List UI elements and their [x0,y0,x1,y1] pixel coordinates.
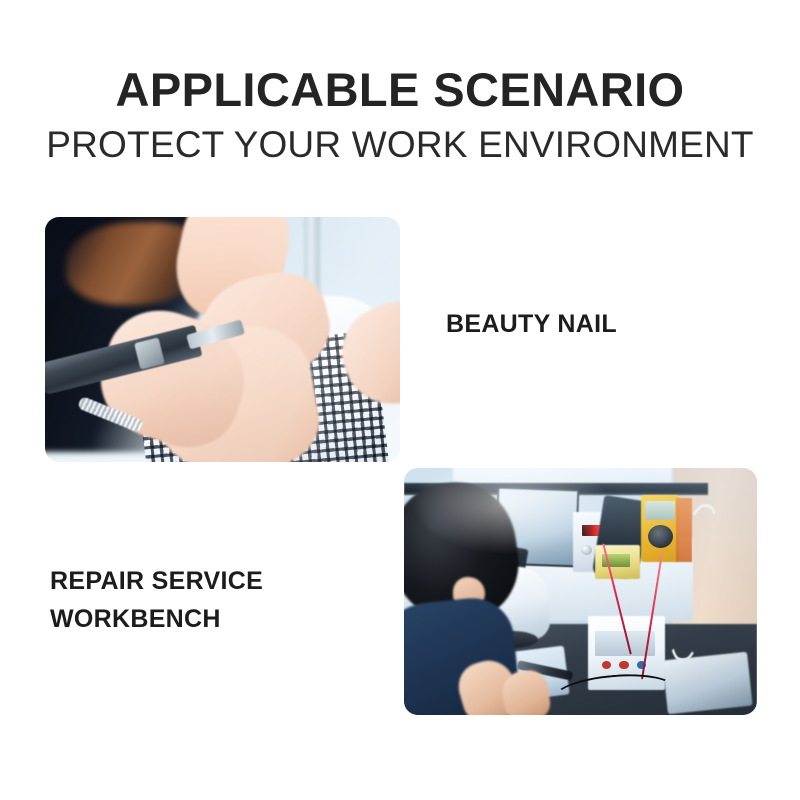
photo-glare [404,468,757,715]
photo-beauty-nail [45,217,400,462]
photo-sheen [45,217,400,462]
caption-beauty-nail: BEAUTY NAIL [446,305,617,343]
caption-repair-line1: REPAIR SERVICE [50,562,263,600]
page-title: APPLICABLE SCENARIO [0,62,800,118]
caption-repair-workbench: REPAIR SERVICE WORKBENCH [50,562,263,638]
repair-workbench-scene [404,468,757,715]
beauty-nail-scene [45,217,400,462]
heading-block: APPLICABLE SCENARIO PROTECT YOUR WORK EN… [0,62,800,168]
photo-repair-workbench [404,468,757,715]
page-subtitle: PROTECT YOUR WORK ENVIRONMENT [0,122,800,168]
caption-repair-line2: WORKBENCH [50,600,263,638]
applicable-scenario-page: APPLICABLE SCENARIO PROTECT YOUR WORK EN… [0,0,800,800]
